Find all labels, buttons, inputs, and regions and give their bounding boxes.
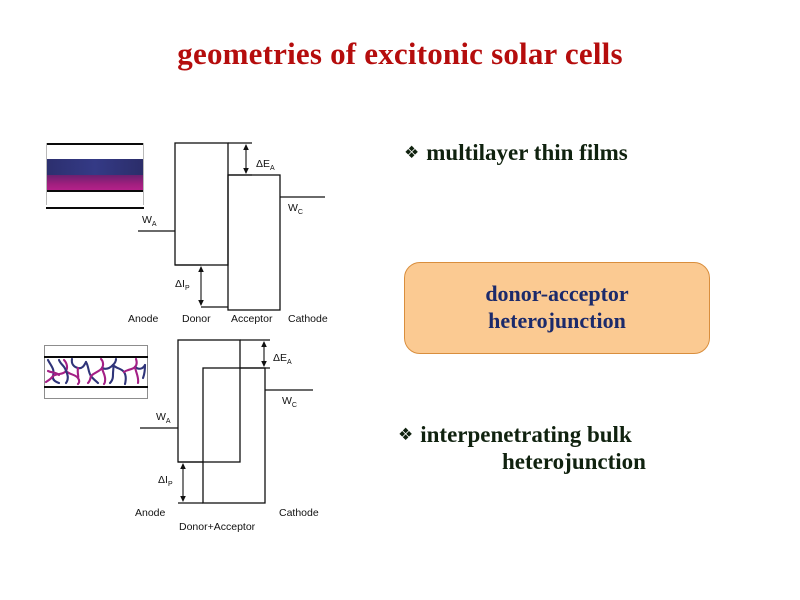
page-title: geometries of excitonic solar cells [0, 36, 800, 72]
callout-line-2: heterojunction [488, 308, 626, 333]
axis-label-cathode: Cathode [279, 507, 319, 519]
axis-label-anode: Anode [128, 313, 158, 325]
bullet-interpenetrating-bulk-heterojunction: ❖interpenetrating bulk heterojunction [398, 421, 750, 475]
label-delta-ea: ΔEA [256, 159, 275, 172]
axis-label-anode: Anode [135, 507, 165, 519]
label-wa: WA [142, 215, 157, 228]
bullet-multilayer-thin-films: ❖multilayer thin films [404, 139, 744, 166]
donor-acceptor-heterojunction-callout: donor-acceptor heterojunction [404, 262, 710, 354]
axis-label-acceptor: Acceptor [231, 313, 272, 325]
bullet-label: multilayer thin films [426, 140, 627, 165]
axis-label-cathode: Cathode [288, 313, 328, 325]
multilayer-energy-diagram: ΔEA WC WA ΔIP Anode Donor Acceptor Catho… [120, 135, 350, 330]
slide-canvas: geometries of excitonic solar cells [0, 0, 800, 600]
bullet-label: interpenetrating bulk [420, 422, 631, 447]
label-delta-ip: ΔIP [158, 475, 173, 488]
bullet-line-1: ❖interpenetrating bulk [398, 421, 750, 448]
label-wa: WA [156, 412, 171, 425]
callout-text: donor-acceptor heterojunction [485, 281, 628, 335]
diamond-bullet-icon: ❖ [398, 425, 413, 445]
label-wc: WC [282, 396, 297, 409]
bulk-heterojunction-energy-diagram: ΔEA WC WA ΔIP Anode Donor+Acceptor Catho… [130, 333, 355, 538]
label-delta-ip: ΔIP [175, 279, 190, 292]
axis-label-donor-acceptor: Donor+Acceptor [179, 521, 255, 533]
callout-line-1: donor-acceptor [485, 281, 628, 306]
bullet-line-2: heterojunction [398, 448, 750, 475]
stack-edge-left [46, 143, 47, 205]
label-delta-ea: ΔEA [273, 353, 292, 366]
label-wc: WC [288, 203, 303, 216]
diamond-bullet-icon: ❖ [404, 143, 419, 163]
axis-label-donor: Donor [182, 313, 211, 325]
